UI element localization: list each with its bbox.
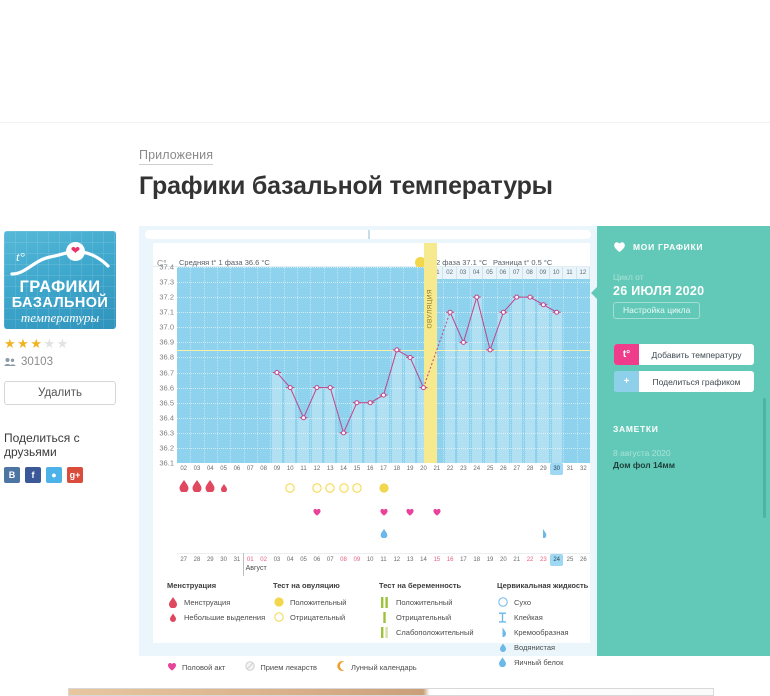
cycle-day-cell[interactable]: 31 [563, 463, 576, 475]
cycle-day-cell[interactable]: 24 [470, 463, 483, 475]
data-point[interactable] [355, 401, 359, 405]
cycle-day-cell[interactable]: 09 [270, 463, 283, 475]
cervical-fluid-icon[interactable] [380, 525, 387, 543]
ovulation-test-negative-icon[interactable] [285, 480, 295, 498]
notes-header: ЗАМЕТКИ [613, 424, 659, 434]
cycle-day-cell[interactable]: 06 [230, 463, 243, 475]
cycle-day-cell[interactable]: 10 [284, 463, 297, 475]
cycle-day-cell[interactable]: 27 [510, 463, 523, 475]
cycle-day-cell[interactable]: 05 [217, 463, 230, 475]
legend-item: Положительный [273, 596, 346, 608]
y-axis-tick: 36.2 [159, 443, 174, 452]
rating-stars[interactable]: ★★★★★ [4, 337, 116, 350]
intercourse-heart-icon[interactable] [406, 503, 415, 521]
legend-column-title: Менструация [167, 581, 265, 590]
legend-item: Слабоположительный [379, 626, 474, 638]
cycle-day-cell[interactable]: 03 [190, 463, 203, 475]
stat-phase2: 2 фаза 37.1 °C [436, 258, 487, 267]
chart-stats-header: C° Средняя t° 1 фаза 36.6 °C 2 фаза 37.1… [153, 243, 590, 267]
chart-card: C° Средняя t° 1 фаза 36.6 °C 2 фаза 37.1… [153, 243, 590, 643]
calendar-day-axis[interactable]: 2728293031010203040506070809101112131415… [177, 553, 590, 565]
data-point[interactable] [368, 401, 372, 405]
legend-glyph-icon [245, 661, 255, 673]
legend-column: Цервикальная жидкостьСухоКлейкаяКремообр… [497, 581, 588, 671]
page-root: Приложения Графики базальной температуры… [0, 0, 770, 696]
menstruation-drop-icon[interactable] [221, 479, 227, 497]
menstruation-drop-icon[interactable] [179, 479, 188, 497]
panel-pointer-icon [591, 286, 598, 300]
notes-scrollbar[interactable] [763, 398, 766, 518]
data-point[interactable] [315, 386, 319, 390]
legend-footer-item: Половой акт [167, 662, 225, 673]
legend-item-label: Отрицательный [396, 613, 451, 622]
data-point[interactable] [421, 386, 425, 390]
legend-footer-label: Прием лекарств [260, 663, 317, 672]
month-separator [243, 553, 244, 576]
legend-item: Отрицательный [379, 611, 474, 623]
legend-item-label: Водянистая [514, 643, 555, 652]
facebook-share-icon[interactable]: f [25, 467, 41, 483]
breadcrumb-apps[interactable]: Приложения [139, 148, 213, 165]
cycle-day-cell[interactable]: 15 [350, 463, 363, 475]
legend-glyph-icon [379, 597, 390, 608]
heart-icon: ❤ [66, 242, 85, 261]
legend-glyph-icon [497, 657, 508, 667]
legend-item-label: Положительный [290, 598, 346, 607]
y-axis-tick: 36.6 [159, 383, 174, 392]
legend-item-label: Небольшие выделения [184, 613, 265, 622]
note-text: Дом фол 14мм [613, 460, 675, 470]
data-point[interactable] [408, 355, 412, 359]
symbol-rows[interactable] [177, 475, 590, 553]
add-temperature-button[interactable]: t° Добавить температуру [614, 344, 754, 365]
legend-glyph-icon [167, 613, 178, 622]
cycle-day-cell[interactable]: 25 [483, 463, 496, 475]
legend-glyph-icon [379, 612, 390, 623]
share-chart-label: Поделиться графиком [639, 377, 754, 387]
vk-share-icon[interactable]: B [4, 467, 20, 483]
icon-line-3: температуры [4, 310, 116, 326]
y-axis-tick: 36.8 [159, 353, 174, 362]
scrollbar-grip[interactable] [368, 230, 370, 239]
data-point[interactable] [541, 303, 545, 307]
legend-item-label: Положительный [396, 598, 452, 607]
cycle-day-cell[interactable]: 26 [497, 463, 510, 475]
page-title: Графики базальной температуры [139, 172, 553, 201]
y-axis: 37.437.337.237.137.036.936.836.736.636.5… [153, 267, 177, 463]
cycle-day-cell[interactable]: 11 [297, 463, 310, 475]
legend-item: Водянистая [497, 641, 588, 653]
heart-icon [613, 241, 626, 253]
legend-item: Небольшие выделения [167, 611, 265, 623]
stat-phase1: Средняя t° 1 фаза 36.6 °C [179, 258, 270, 267]
legend-footer-label: Лунный календарь [351, 663, 417, 672]
legend-glyph-icon [273, 612, 284, 622]
data-point[interactable] [555, 310, 559, 314]
app-icon[interactable]: t° ❤ ГРАФИКИ БАЗАЛЬНОЙ температуры [4, 231, 116, 329]
cycle-day-cell[interactable]: 08 [257, 463, 270, 475]
intercourse-heart-icon[interactable] [432, 503, 441, 521]
cycle-day-cell[interactable]: 07 [244, 463, 257, 475]
plus-icon: + [614, 371, 639, 392]
data-point[interactable] [395, 348, 399, 352]
ovulation-test-positive-icon[interactable] [379, 480, 389, 498]
cervical-fluid-icon[interactable] [540, 525, 547, 543]
ovulation-test-negative-icon[interactable] [339, 480, 349, 498]
data-point[interactable] [515, 295, 519, 299]
legend-glyph-icon [497, 612, 508, 623]
legend-glyph-icon [167, 597, 178, 608]
legend-glyph-icon [497, 643, 508, 652]
data-point[interactable] [488, 348, 492, 352]
cycle-day-cell[interactable]: 23 [457, 463, 470, 475]
legend-item-label: Яичный белок [514, 658, 563, 667]
star-icon: ★ [57, 336, 70, 351]
cycle-from-label: Цикл от [613, 272, 644, 282]
legend-column: МенструацияМенструацияНебольшие выделени… [167, 581, 265, 626]
y-axis-tick: 36.7 [159, 368, 174, 377]
delete-button[interactable]: Удалить [4, 381, 116, 405]
menstruation-drop-icon[interactable] [206, 479, 215, 497]
star-icon: ★ [4, 336, 17, 351]
installs-count-row: 30103 [4, 356, 116, 368]
add-temperature-label: Добавить температуру [639, 350, 754, 360]
thermometer-icon: t° [614, 344, 639, 365]
my-charts-header[interactable]: МОИ ГРАФИКИ [613, 241, 703, 253]
cycle-from-date: 26 ИЮЛЯ 2020 [613, 284, 704, 298]
right-panel: МОИ ГРАФИКИ Цикл от 26 ИЮЛЯ 2020 Настрой… [597, 226, 770, 656]
data-point[interactable] [528, 295, 532, 299]
legend-glyph-icon [337, 661, 346, 673]
twitter-share-icon[interactable]: ● [46, 467, 62, 483]
cycle-day-cell[interactable]: 12 [310, 463, 323, 475]
bottom-partial-element [68, 688, 714, 696]
cycle-day-cell[interactable]: 02 [177, 463, 190, 475]
googleplus-share-icon[interactable]: g+ [67, 467, 83, 483]
legend-item: Сухо [497, 596, 588, 608]
chart-plot-area[interactable]: 010203040506070809101112ОВУЛЯЦИЯ [177, 267, 590, 463]
legend-item: Клейкая [497, 611, 588, 623]
legend-item: Менструация [167, 596, 265, 608]
data-point[interactable] [328, 386, 332, 390]
y-axis-tick: 36.1 [159, 459, 174, 468]
cycle-day-cell[interactable]: 28 [523, 463, 536, 475]
data-point[interactable] [342, 431, 346, 435]
y-axis-tick: 37.1 [159, 308, 174, 317]
data-point[interactable] [475, 295, 479, 299]
cycle-day-axis[interactable]: 0203040506070809101112131415161718192021… [177, 463, 590, 475]
y-axis-tick: 36.4 [159, 413, 174, 422]
cycle-day-cell[interactable]: 13 [324, 463, 337, 475]
legend-glyph-icon [167, 662, 177, 673]
cycle-day-cell[interactable]: 14 [337, 463, 350, 475]
legend-column-title: Тест на овуляцию [273, 581, 346, 590]
cycle-day-cell[interactable]: 30 [550, 463, 563, 475]
data-point[interactable] [302, 416, 306, 420]
app-sidebar: t° ❤ ГРАФИКИ БАЗАЛЬНОЙ температуры ★★★★★… [4, 231, 116, 483]
intercourse-heart-icon[interactable] [312, 503, 321, 521]
data-point[interactable] [448, 310, 452, 314]
cycle-setup-button[interactable]: Настройка цикла [613, 302, 700, 319]
users-icon [4, 357, 16, 367]
data-point[interactable] [382, 393, 386, 397]
menstruation-drop-icon[interactable] [192, 479, 201, 497]
chart-horizontal-scrollbar[interactable] [145, 230, 591, 239]
cycle-day-cell[interactable]: 17 [377, 463, 390, 475]
y-axis-tick: 36.5 [159, 398, 174, 407]
legend-item: Отрицательный [273, 611, 346, 623]
social-share-row: B f ● g+ [4, 467, 116, 483]
chart-widget: C° Средняя t° 1 фаза 36.6 °C 2 фаза 37.1… [139, 226, 597, 656]
icon-line-2: БАЗАЛЬНОЙ [4, 295, 116, 311]
data-point[interactable] [288, 386, 292, 390]
cycle-day-cell[interactable]: 16 [364, 463, 377, 475]
legend-column: Тест на беременностьПоложительныйОтрицат… [379, 581, 474, 641]
y-axis-tick: 37.2 [159, 293, 174, 302]
legend-footer-row: Половой актПрием лекарствЛунный календар… [167, 661, 417, 673]
star-icon: ★ [30, 336, 43, 351]
icon-tdeg-label: t° [16, 249, 25, 265]
stat-difference: Разница t° 0.5 °C [493, 258, 552, 267]
y-axis-tick: 37.4 [159, 263, 174, 272]
temperature-series [177, 267, 590, 463]
legend-column: Тест на овуляциюПоложительныйОтрицательн… [273, 581, 346, 626]
data-point[interactable] [461, 340, 465, 344]
legend-item-label: Слабоположительный [396, 628, 474, 637]
ovulation-test-negative-icon[interactable] [325, 480, 335, 498]
legend-item-label: Отрицательный [290, 613, 345, 622]
legend-footer-item: Прием лекарств [245, 661, 317, 673]
cycle-day-cell[interactable]: 20 [417, 463, 430, 475]
legend-glyph-icon [379, 627, 390, 638]
legend-glyph-icon [497, 597, 508, 607]
legend-footer-label: Половой акт [182, 663, 225, 672]
y-axis-tick: 37.0 [159, 323, 174, 332]
my-charts-label: МОИ ГРАФИКИ [633, 242, 703, 252]
installs-count: 30103 [21, 356, 53, 368]
ovulation-test-negative-icon[interactable] [352, 480, 362, 498]
note-date: 8 августа 2020 [613, 448, 671, 458]
legend-item: Яичный белок [497, 656, 588, 668]
share-with-friends-label: Поделиться с друзьями [4, 431, 116, 459]
legend-item-label: Менструация [184, 598, 230, 607]
legend-item: Кремообразная [497, 626, 588, 638]
y-axis-tick: 36.9 [159, 338, 174, 347]
cycle-day-cell[interactable]: 22 [443, 463, 456, 475]
icon-curve [10, 244, 110, 280]
cycle-day-cell[interactable]: 29 [537, 463, 550, 475]
top-divider [0, 122, 770, 123]
cycle-day-cell[interactable]: 18 [390, 463, 403, 475]
legend-column-title: Тест на беременность [379, 581, 474, 590]
legend-item-label: Кремообразная [514, 628, 569, 637]
series-line [277, 350, 424, 433]
legend-item-label: Клейкая [514, 613, 543, 622]
cycle-day-cell[interactable]: 19 [403, 463, 416, 475]
legend-footer-item: Лунный календарь [337, 661, 417, 673]
share-chart-button[interactable]: + Поделиться графиком [614, 371, 754, 392]
legend-glyph-icon [273, 597, 284, 607]
cycle-day-cell[interactable]: 04 [204, 463, 217, 475]
legend-item: Положительный [379, 596, 474, 608]
data-point[interactable] [275, 371, 279, 375]
data-point[interactable] [501, 310, 505, 314]
y-axis-tick: 37.3 [159, 278, 174, 287]
star-icon: ★ [43, 336, 56, 351]
legend-column-title: Цервикальная жидкость [497, 581, 588, 590]
star-icon: ★ [17, 336, 30, 351]
y-axis-tick: 36.3 [159, 428, 174, 437]
intercourse-heart-icon[interactable] [379, 503, 388, 521]
cycle-day-cell[interactable]: 21 [430, 463, 443, 475]
month-row: Август [177, 565, 590, 576]
legend-glyph-icon [497, 627, 508, 637]
cycle-day-cell[interactable]: 32 [577, 463, 590, 475]
legend-item-label: Сухо [514, 598, 531, 607]
series-gap-line [423, 312, 450, 387]
month-label: Август [246, 565, 267, 572]
ovulation-test-negative-icon[interactable] [312, 480, 322, 498]
